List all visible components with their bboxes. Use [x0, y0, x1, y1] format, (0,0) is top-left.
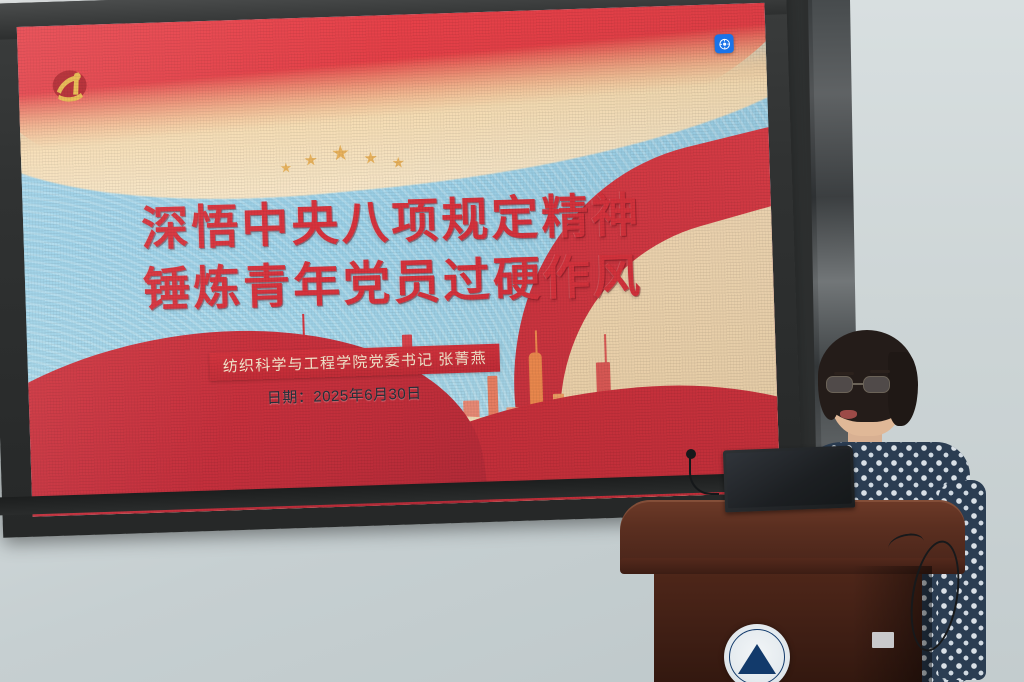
screen-cast-badge-icon[interactable] — [714, 34, 734, 54]
eyeglasses-lens-right — [863, 376, 890, 393]
university-emblem-icon — [724, 624, 790, 682]
microphone-head-icon — [686, 449, 696, 459]
laptop-screen — [726, 449, 852, 509]
eyeglasses-bridge — [853, 383, 863, 385]
slide-canvas: 深悟中央八项规定精神 锤炼青年党员过硬作风 纺织科学与工程学院党委书记 张菁燕 … — [17, 3, 780, 517]
speaker-mouth — [840, 410, 857, 419]
eyeglasses-icon — [826, 376, 900, 394]
lectern-label-tag — [872, 632, 894, 648]
presentation-screen: 深悟中央八项规定精神 锤炼青年党员过硬作风 纺织科学与工程学院党委书记 张菁燕 … — [0, 0, 803, 538]
laptop-lid — [723, 446, 855, 513]
speaker-brow-left — [834, 372, 854, 375]
speaker-brow-right — [870, 370, 890, 373]
screen-display-area: 深悟中央八项规定精神 锤炼青年党员过硬作风 纺织科学与工程学院党委书记 张菁燕 … — [17, 3, 780, 517]
screen-glare — [17, 3, 780, 517]
emblem-triangle — [738, 644, 776, 674]
eyeglasses-lens-left — [826, 376, 853, 393]
presenter-laptop[interactable] — [723, 446, 855, 513]
photo-scene: 深悟中央八项规定精神 锤炼青年党员过硬作风 纺织科学与工程学院党委书记 张菁燕 … — [0, 0, 1024, 682]
